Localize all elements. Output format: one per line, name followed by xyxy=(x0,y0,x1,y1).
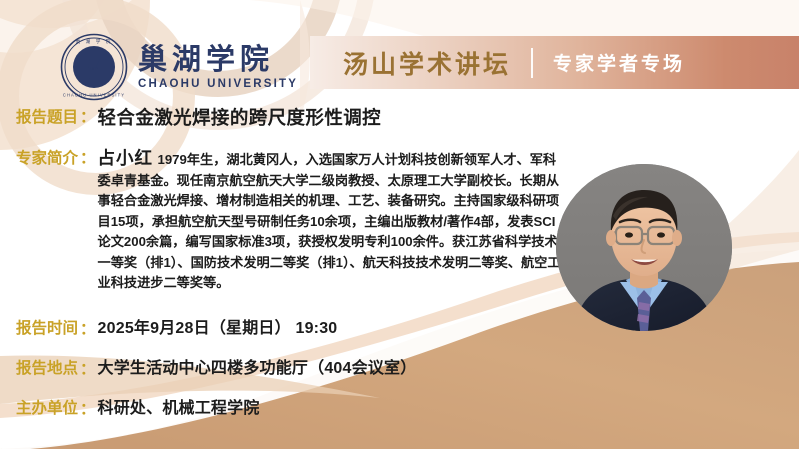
organizer-label: 主办单位 xyxy=(16,396,78,422)
report-place-colon: ： xyxy=(78,356,98,384)
organizer-value: 科研处、机械工程学院 xyxy=(98,396,260,422)
svg-text:1977: 1977 xyxy=(90,66,100,71)
organizer-row: 主办单位 ： 科研处、机械工程学院 xyxy=(0,396,799,424)
university-name-block: 巢湖学院 CHAOHU UNIVERSITY xyxy=(138,44,298,90)
event-banner: 汤山学术讲坛 专家学者专场 xyxy=(310,36,799,89)
chaohu-university-seal-icon: 1977 巢 湖 学 院 CHAOHU UNIVERSITY xyxy=(60,33,128,101)
report-place-row: 报告地点 ： 大学生活动中心四楼多功能厅（404会议室） xyxy=(0,356,799,384)
poster-header: 1977 巢 湖 学 院 CHAOHU UNIVERSITY 巢湖学院 CHAO… xyxy=(0,0,799,110)
seminar-poster: 1977 巢 湖 学 院 CHAOHU UNIVERSITY 巢湖学院 CHAO… xyxy=(0,0,799,449)
report-title-value: 轻合金激光焊接的跨尺度形性调控 xyxy=(98,104,382,132)
university-identity: 1977 巢 湖 学 院 CHAOHU UNIVERSITY 巢湖学院 CHAO… xyxy=(60,33,298,101)
report-title-row: 报告题目 ： 轻合金激光焊接的跨尺度形性调控 xyxy=(0,104,799,132)
svg-text:巢 湖 学 院: 巢 湖 学 院 xyxy=(76,38,113,45)
organizer-colon: ： xyxy=(78,396,98,424)
speaker-portrait xyxy=(556,164,732,331)
banner-main-title: 汤山学术讲坛 xyxy=(343,45,511,81)
report-time-label: 报告时间 xyxy=(16,316,78,342)
speaker-portrait-image xyxy=(556,164,732,331)
speaker-bio-body: 占小红 1979年生，湖北黄冈人，入选国家万人计划科技创新领军人才、军科委卓青基… xyxy=(98,145,568,294)
report-time-colon: ： xyxy=(78,316,98,344)
svg-text:CHAOHU UNIVERSITY: CHAOHU UNIVERSITY xyxy=(63,93,125,98)
report-time-value: 2025年9月28日（星期日） 19:30 xyxy=(98,316,338,342)
report-title-label: 报告题目 xyxy=(16,104,78,132)
report-place-label: 报告地点 xyxy=(16,356,78,382)
speaker-name: 占小红 xyxy=(98,148,154,168)
speaker-bio-label: 专家简介 xyxy=(16,145,78,173)
report-title-colon: ： xyxy=(78,104,98,132)
banner-divider xyxy=(531,48,533,78)
speaker-bio-colon: ： xyxy=(78,145,98,173)
banner-subtitle: 专家学者专场 xyxy=(553,49,685,76)
speaker-bio-text: 1979年生，湖北黄冈人，入选国家万人计划科技创新领军人才、军科委卓青基金。现任… xyxy=(98,152,561,290)
university-name-en: CHAOHU UNIVERSITY xyxy=(138,78,298,90)
university-name-cn: 巢湖学院 xyxy=(138,44,298,74)
report-place-value: 大学生活动中心四楼多功能厅（404会议室） xyxy=(98,356,417,382)
